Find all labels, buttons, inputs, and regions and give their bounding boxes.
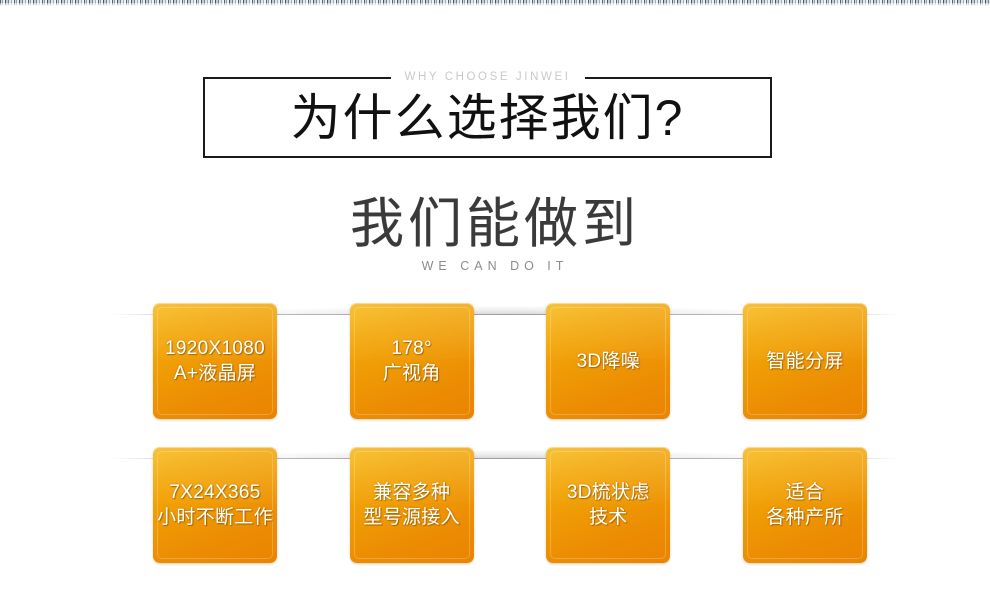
feature-card-line2: 技术 — [567, 505, 650, 530]
feature-card-text: 7X24X365 小时不断工作 — [153, 480, 277, 530]
feature-card[interactable]: 智能分屏 — [743, 303, 867, 419]
feature-card-text: 兼容多种 型号源接入 — [359, 480, 464, 530]
feature-card-line1: 3D梳状虑 — [567, 482, 650, 503]
subtitle-block: 我们能做到 WE CAN DO IT — [0, 192, 990, 274]
feature-card-line1: 智能分屏 — [766, 351, 843, 372]
feature-card-text: 3D降噪 — [573, 349, 645, 374]
feature-card-line1: 1920X1080 — [165, 338, 265, 359]
feature-card[interactable]: 3D降噪 — [546, 303, 670, 419]
feature-card[interactable]: 兼容多种 型号源接入 — [350, 447, 474, 563]
feature-card-text: 3D梳状虑 技术 — [563, 480, 654, 530]
feature-card-line2: 小时不断工作 — [157, 505, 273, 530]
feature-card[interactable]: 178° 广视角 — [350, 303, 474, 419]
feature-card-line1: 178° — [391, 338, 432, 359]
feature-row: 1920X1080 A+液晶屏 178° 广视角 3D降噪 智能分屏 — [0, 297, 990, 425]
feature-card-group: 1920X1080 A+液晶屏 178° 广视角 3D降噪 智能分屏 — [153, 303, 867, 421]
feature-card-line2: 型号源接入 — [363, 505, 460, 530]
feature-card-text: 1920X1080 A+液晶屏 — [161, 336, 269, 386]
feature-card-line1: 3D降噪 — [577, 351, 641, 372]
feature-card-text: 适合 各种产所 — [762, 480, 847, 530]
headline-block: 为什么选择我们? WHY CHOOSE JINWEI — [203, 77, 772, 158]
feature-card-text: 智能分屏 — [762, 349, 847, 374]
headline-eyebrow: WHY CHOOSE JINWEI — [390, 68, 584, 86]
feature-card[interactable]: 7X24X365 小时不断工作 — [153, 447, 277, 563]
feature-card-line2: 广视角 — [383, 361, 441, 386]
feature-row: 7X24X365 小时不断工作 兼容多种 型号源接入 3D梳状虑 技术 适合 各… — [0, 441, 990, 569]
subtitle-english: WE CAN DO IT — [0, 258, 990, 274]
feature-card-line1: 兼容多种 — [373, 482, 450, 503]
subtitle-chinese: 我们能做到 — [0, 192, 990, 256]
feature-card-line1: 适合 — [786, 482, 825, 503]
feature-card-text: 178° 广视角 — [379, 336, 445, 386]
page-title: 为什么选择我们? — [203, 77, 772, 158]
feature-card-line1: 7X24X365 — [169, 482, 260, 503]
top-image-artifact-strip — [0, 0, 990, 6]
feature-card-line2: 各种产所 — [766, 505, 843, 530]
feature-card[interactable]: 3D梳状虑 技术 — [546, 447, 670, 563]
feature-card-group: 7X24X365 小时不断工作 兼容多种 型号源接入 3D梳状虑 技术 适合 各… — [153, 447, 867, 565]
feature-card-line2: A+液晶屏 — [165, 361, 265, 386]
feature-card[interactable]: 1920X1080 A+液晶屏 — [153, 303, 277, 419]
feature-card[interactable]: 适合 各种产所 — [743, 447, 867, 563]
